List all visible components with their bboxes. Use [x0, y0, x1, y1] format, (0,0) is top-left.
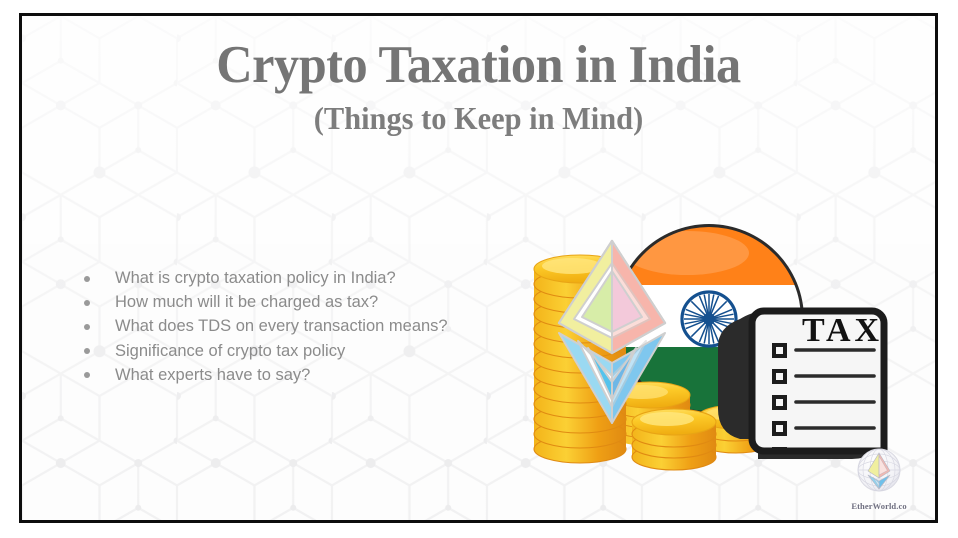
bullet-dot-icon — [84, 372, 90, 378]
bullet-dot-icon — [84, 276, 90, 282]
list-item-label: What experts have to say? — [115, 366, 310, 384]
ethereum-diamond-icon — [852, 444, 906, 498]
coin-stack-front-center — [632, 409, 716, 470]
list-item: What is crypto taxation policy in India? — [62, 266, 448, 290]
page-title: Crypto Taxation in India — [45, 38, 912, 93]
page-subtitle: (Things to Keep in Mind) — [45, 101, 912, 136]
slide-canvas: Crypto Taxation in India (Things to Keep… — [0, 0, 958, 538]
title-block: Crypto Taxation in India (Things to Keep… — [22, 38, 935, 136]
list-item-label: What is crypto taxation policy in India? — [115, 269, 396, 287]
tax-document-label: TAX — [802, 312, 880, 349]
brand-logo: EtherWorld.co — [841, 444, 917, 511]
list-item: What experts have to say? — [62, 363, 448, 387]
bullet-dot-icon — [84, 300, 90, 306]
list-item: How much will it be charged as tax? — [62, 290, 448, 314]
list-item-label: What does TDS on every transaction means… — [115, 317, 448, 335]
list-item: What does TDS on every transaction means… — [62, 314, 448, 338]
list-item: Significance of crypto tax policy — [62, 339, 448, 363]
bullet-dot-icon — [84, 348, 90, 354]
crypto-tax-illustration: TAX — [502, 201, 922, 471]
tax-document: TAX — [752, 311, 884, 460]
bullet-dot-icon — [84, 324, 90, 330]
topic-list: What is crypto taxation policy in India?… — [62, 266, 448, 387]
list-item-label: Significance of crypto tax policy — [115, 342, 345, 360]
list-item-label: How much will it be charged as tax? — [115, 293, 378, 311]
brand-name-label: EtherWorld.co — [841, 501, 917, 511]
slide-frame: Crypto Taxation in India (Things to Keep… — [19, 13, 938, 523]
